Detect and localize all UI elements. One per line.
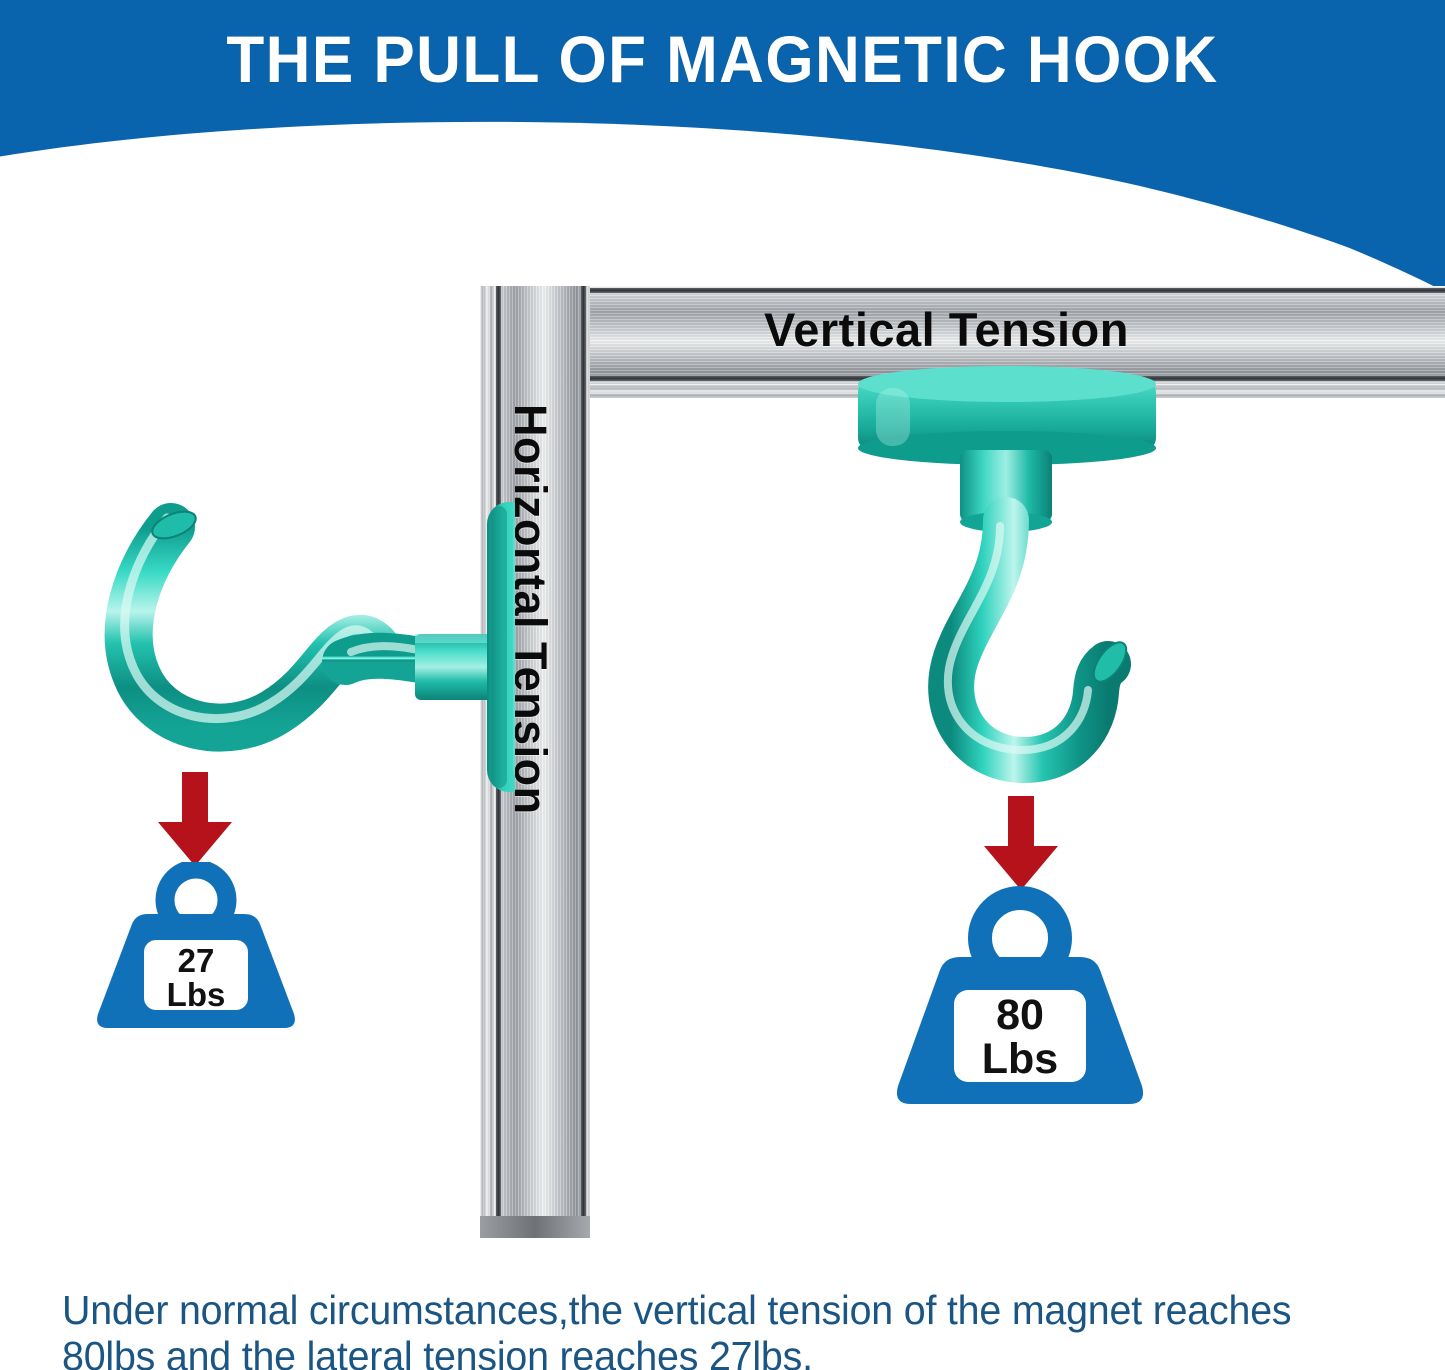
wall-bar-right-edge bbox=[581, 286, 586, 1238]
header-banner: THE PULL OF MAGNETIC HOOK bbox=[0, 0, 1445, 290]
right-weight-icon: 80 Lbs bbox=[884, 886, 1156, 1110]
caption-text: Under normal circumstances,the vertical … bbox=[62, 1288, 1339, 1370]
page-title: THE PULL OF MAGNETIC HOOK bbox=[43, 26, 1401, 92]
right-magnetic-hook bbox=[852, 362, 1182, 802]
right-down-arrow-icon bbox=[978, 796, 1064, 892]
left-down-arrow-icon bbox=[152, 772, 238, 868]
ceiling-bar-label: Vertical Tension bbox=[764, 302, 1129, 357]
right-weight-label: 80 Lbs bbox=[954, 994, 1086, 1082]
ceiling-bar-top-edge bbox=[586, 288, 1445, 293]
left-weight-label: 27 Lbs bbox=[144, 944, 248, 1011]
wall-bar-foot bbox=[480, 1216, 590, 1238]
infographic-page: THE PULL OF MAGNETIC HOOK Vertical Tensi… bbox=[0, 0, 1445, 1370]
left-weight-icon: 27 Lbs bbox=[86, 862, 306, 1034]
left-magnetic-hook bbox=[75, 480, 515, 810]
